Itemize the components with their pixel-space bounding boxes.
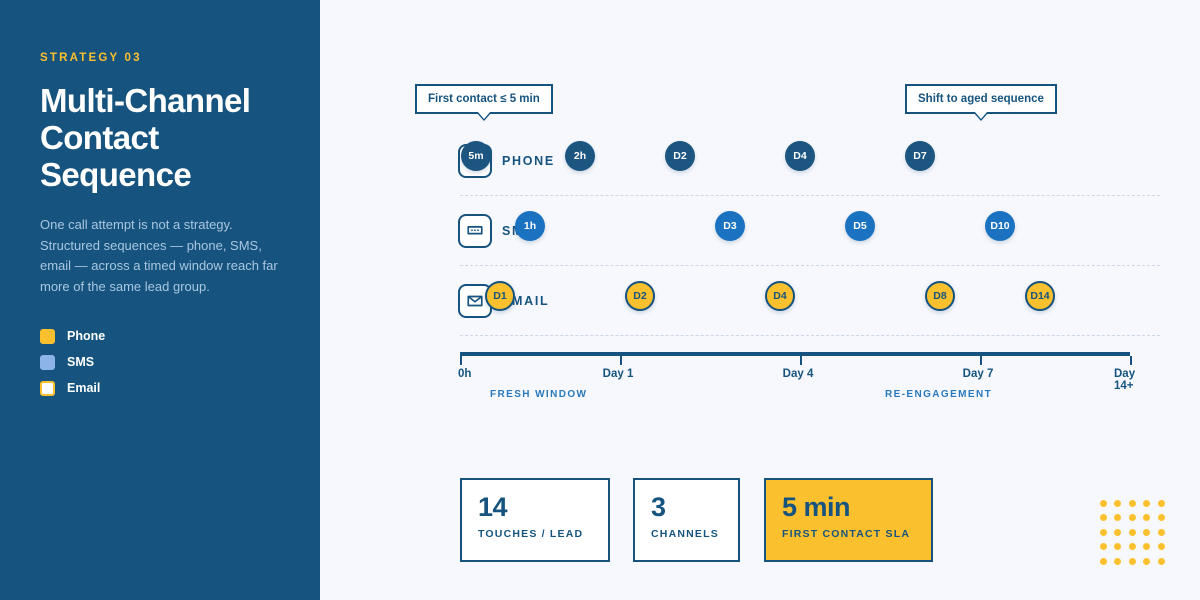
axis-tick bbox=[460, 356, 462, 365]
grid-dot-icon bbox=[1100, 529, 1107, 536]
grid-dot-icon bbox=[1129, 500, 1136, 507]
legend-item-sms: SMS bbox=[40, 349, 280, 375]
grid-dot-icon bbox=[1114, 543, 1121, 550]
touch-marker[interactable]: D14 bbox=[1025, 281, 1055, 311]
grid-dot-icon bbox=[1158, 500, 1165, 507]
touch-marker[interactable]: 2h bbox=[565, 141, 595, 171]
legend-item-label: Email bbox=[67, 381, 100, 395]
axis-tick bbox=[1130, 356, 1132, 365]
panel-description: One call attempt is not a strategy. Stru… bbox=[40, 215, 280, 297]
grid-dot-icon bbox=[1129, 514, 1136, 521]
legend-item-email: Email bbox=[40, 375, 280, 401]
grid-dot-icon bbox=[1114, 500, 1121, 507]
grid-dot-icon bbox=[1100, 514, 1107, 521]
phase-label: RE-ENGAGEMENT bbox=[885, 389, 992, 400]
stat-value: 14 bbox=[478, 492, 592, 522]
grid-dot-icon bbox=[1129, 529, 1136, 536]
grid-dot-icon bbox=[1143, 514, 1150, 521]
timeline-axis bbox=[460, 352, 1130, 356]
phase-label: FRESH WINDOW bbox=[490, 389, 587, 400]
callout-tail-icon bbox=[476, 112, 492, 121]
touch-marker[interactable]: D8 bbox=[925, 281, 955, 311]
timeline-stage: First contact ≤ 5 minShift to aged seque… bbox=[320, 0, 1200, 600]
touch-marker[interactable]: D7 bbox=[905, 141, 935, 171]
grid-dot-icon bbox=[1158, 543, 1165, 550]
grid-dot-icon bbox=[1114, 558, 1121, 565]
grid-dot-icon bbox=[1114, 529, 1121, 536]
touch-marker[interactable]: D4 bbox=[765, 281, 795, 311]
axis-tick bbox=[620, 356, 622, 365]
sms-icon bbox=[458, 214, 492, 248]
grid-dot-icon bbox=[1158, 514, 1165, 521]
stat-value: 5 min bbox=[782, 492, 915, 522]
legend-item-label: SMS bbox=[67, 355, 94, 369]
channel-legend: PhoneSMSEmail bbox=[40, 323, 280, 401]
grid-dot-icon bbox=[1114, 514, 1121, 521]
stat-label: FIRST CONTACT SLA bbox=[782, 528, 915, 540]
callout-text: First contact ≤ 5 min bbox=[428, 93, 540, 105]
grid-dot-icon bbox=[1129, 558, 1136, 565]
page-title: Multi-Channel Contact Sequence bbox=[40, 82, 280, 193]
touch-marker[interactable]: D10 bbox=[985, 211, 1015, 241]
channel-row-sms: SMS1hD3D5D10 bbox=[320, 196, 1200, 266]
stat-value: 3 bbox=[651, 492, 722, 522]
touch-marker[interactable]: D5 bbox=[845, 211, 875, 241]
grid-dot-icon bbox=[1100, 543, 1107, 550]
axis-tick-label: Day 1 bbox=[603, 368, 634, 380]
stat-label: CHANNELS bbox=[651, 528, 722, 540]
touch-marker[interactable]: 5m bbox=[461, 141, 491, 171]
left-panel: STRATEGY 03 Multi-Channel Contact Sequen… bbox=[0, 0, 320, 600]
touch-marker[interactable]: D4 bbox=[785, 141, 815, 171]
channel-label: PHONE bbox=[502, 154, 555, 168]
stat-label: TOUCHES / LEAD bbox=[478, 528, 592, 540]
legend-item-label: Phone bbox=[67, 329, 105, 343]
legend-swatch-icon bbox=[40, 355, 55, 370]
stat-card: 3CHANNELS bbox=[633, 478, 740, 562]
legend-swatch-icon bbox=[40, 329, 55, 344]
axis-tick bbox=[980, 356, 982, 365]
touch-marker[interactable]: 1h bbox=[515, 211, 545, 241]
grid-dot-icon bbox=[1158, 529, 1165, 536]
decorative-dot-grid bbox=[1100, 500, 1172, 572]
touch-marker[interactable]: D2 bbox=[625, 281, 655, 311]
stat-card: 5 minFIRST CONTACT SLA bbox=[764, 478, 933, 562]
callout-tail-icon bbox=[973, 112, 989, 121]
touch-marker[interactable]: D3 bbox=[715, 211, 745, 241]
grid-dot-icon bbox=[1143, 543, 1150, 550]
axis-tick-label: Day 4 bbox=[783, 368, 814, 380]
grid-dot-icon bbox=[1143, 558, 1150, 565]
grid-dot-icon bbox=[1143, 500, 1150, 507]
legend-swatch-icon bbox=[40, 381, 55, 396]
grid-dot-icon bbox=[1129, 543, 1136, 550]
touch-marker[interactable]: D1 bbox=[485, 281, 515, 311]
callout-1: First contact ≤ 5 min bbox=[415, 84, 553, 114]
axis-tick-label: Day 7 bbox=[963, 368, 994, 380]
legend-item-phone: Phone bbox=[40, 323, 280, 349]
grid-dot-icon bbox=[1158, 558, 1165, 565]
axis-tick bbox=[800, 356, 802, 365]
channel-row-phone: PHONE5m2hD2D4D7 bbox=[320, 126, 1200, 196]
touch-marker[interactable]: D2 bbox=[665, 141, 695, 171]
eyebrow-label: STRATEGY 03 bbox=[40, 52, 280, 64]
grid-dot-icon bbox=[1100, 558, 1107, 565]
row-divider bbox=[460, 335, 1160, 336]
axis-tick-label: Day 14+ bbox=[1114, 368, 1148, 392]
axis-tick-label: 0h bbox=[458, 368, 471, 380]
grid-dot-icon bbox=[1100, 500, 1107, 507]
grid-dot-icon bbox=[1143, 529, 1150, 536]
callout-text: Shift to aged sequence bbox=[918, 93, 1044, 105]
callout-2: Shift to aged sequence bbox=[905, 84, 1057, 114]
stat-card: 14TOUCHES / LEAD bbox=[460, 478, 610, 562]
channel-row-email: EMAILD1D2D4D8D14 bbox=[320, 266, 1200, 336]
